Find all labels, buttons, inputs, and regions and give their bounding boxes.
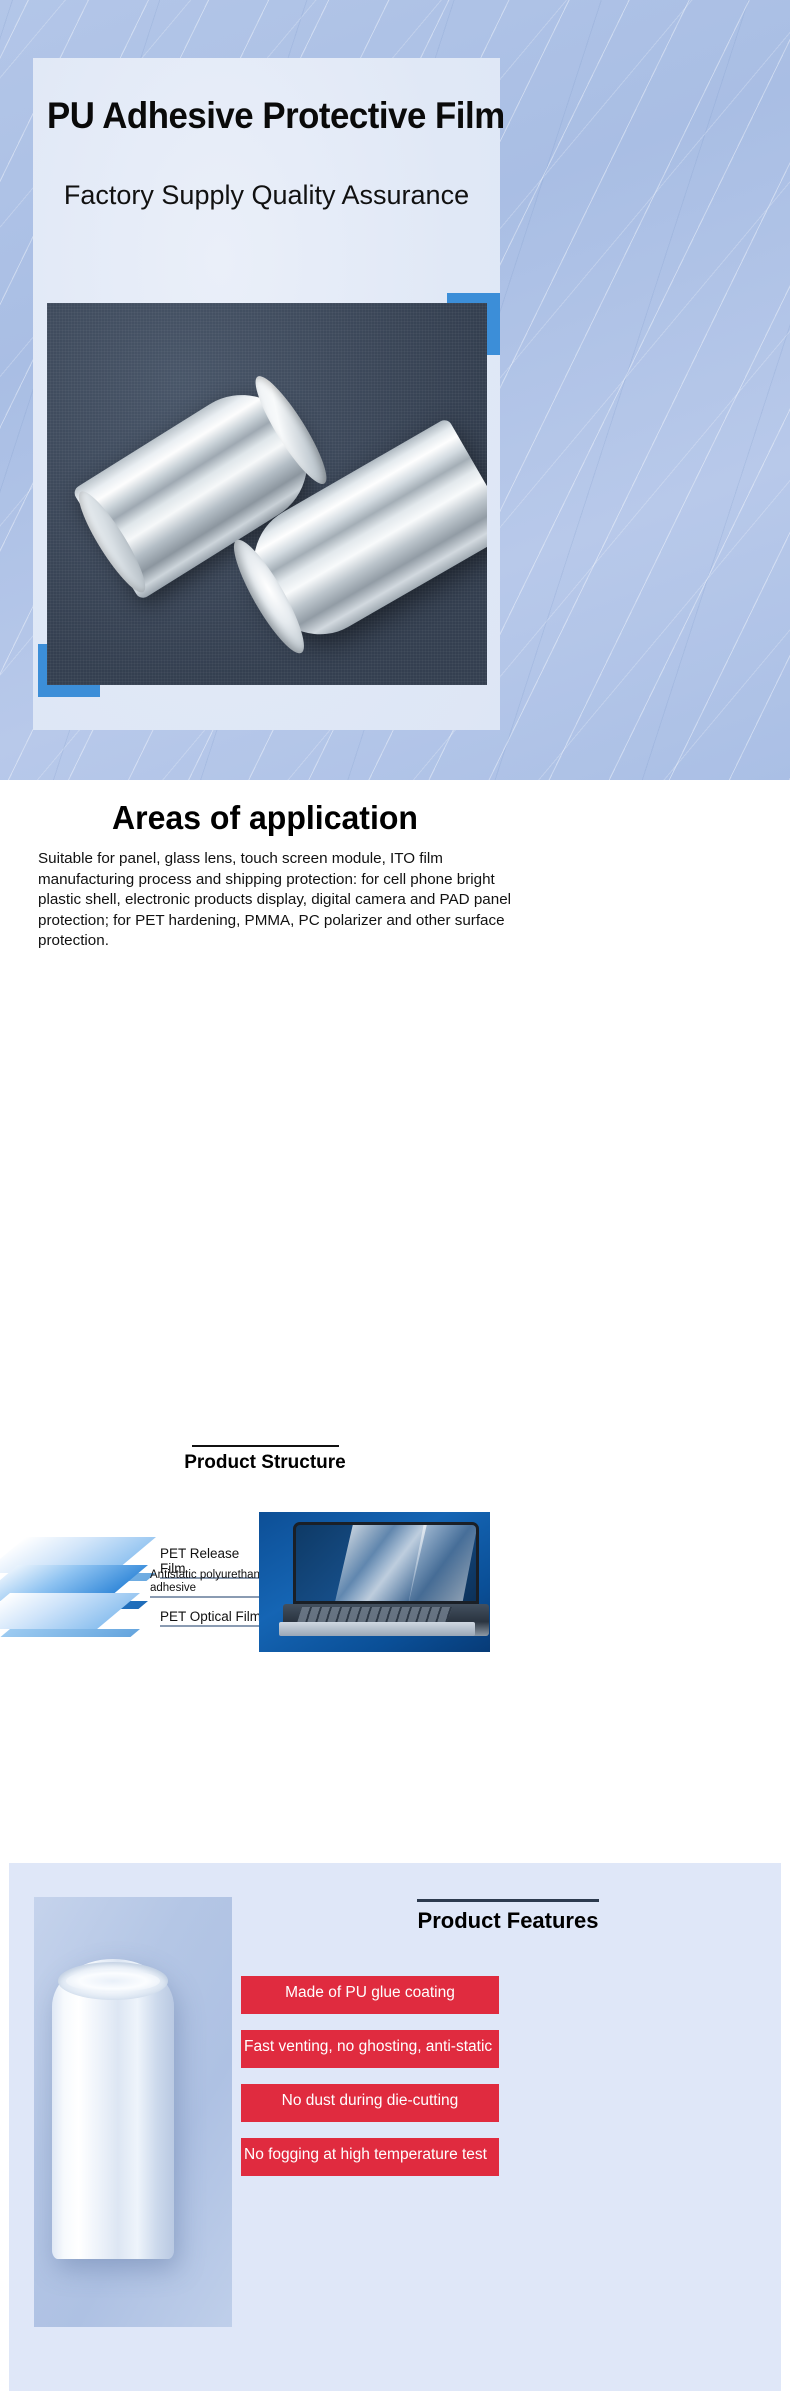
feature-text: No dust during die-cutting: [241, 2091, 499, 2110]
structure-application-photo: [259, 1512, 490, 1652]
application-title: Areas of application: [8, 780, 522, 837]
plate-top-face: [0, 1593, 140, 1629]
application-section: Areas of application Suitable for panel,…: [0, 780, 790, 952]
feature-bar: No fogging at high temperature test: [241, 2138, 499, 2176]
feature-bar: Fast venting, no ghosting, anti-static: [241, 2030, 499, 2068]
layer-label-underline: [150, 1596, 268, 1598]
features-divider: [417, 1899, 599, 1902]
laptop-screen: [293, 1522, 479, 1604]
feature-bar: Made of PU glue coating: [241, 1976, 499, 2014]
feature-text: Made of PU glue coating: [241, 1983, 499, 2002]
features-list: Made of PU glue coating Fast venting, no…: [241, 1976, 499, 2192]
structure-divider: [192, 1445, 339, 1447]
feature-bar: No dust during die-cutting: [241, 2084, 499, 2122]
layer-label-underline: [160, 1625, 268, 1627]
layer-label-text: Antistatic polyurethane adhesive: [150, 1569, 268, 1595]
feature-text: No fogging at high temperature test: [241, 2145, 499, 2164]
layer-label-text: PET Optical Film: [160, 1609, 268, 1624]
features-heading: Product Features: [252, 1899, 764, 1934]
page-subtitle: Factory Supply Quality Assurance: [33, 180, 500, 211]
hero-product-photo: [47, 303, 487, 685]
feature-text: Fast venting, no ghosting, anti-static: [241, 2037, 499, 2056]
layer-label-optical-film: PET Optical Film: [160, 1609, 268, 1627]
features-section: Product Features Made of PU glue coating…: [9, 1863, 781, 2391]
features-title: Product Features: [252, 1908, 764, 1934]
structure-heading: Product Structure: [0, 1445, 530, 1474]
laptop-front-edge: [279, 1622, 475, 1636]
page-title: PU Adhesive Protective Film: [47, 95, 486, 137]
layer-label-adhesive: Antistatic polyurethane adhesive: [150, 1569, 268, 1598]
plate-side-face: [0, 1629, 140, 1637]
film-roll-upright: [52, 1959, 174, 2259]
features-product-photo: [34, 1897, 232, 2327]
structure-title: Product Structure: [0, 1452, 530, 1474]
hero-section: PU Adhesive Protective Film Factory Supp…: [0, 0, 790, 780]
application-body: Suitable for panel, glass lens, touch sc…: [38, 849, 528, 952]
